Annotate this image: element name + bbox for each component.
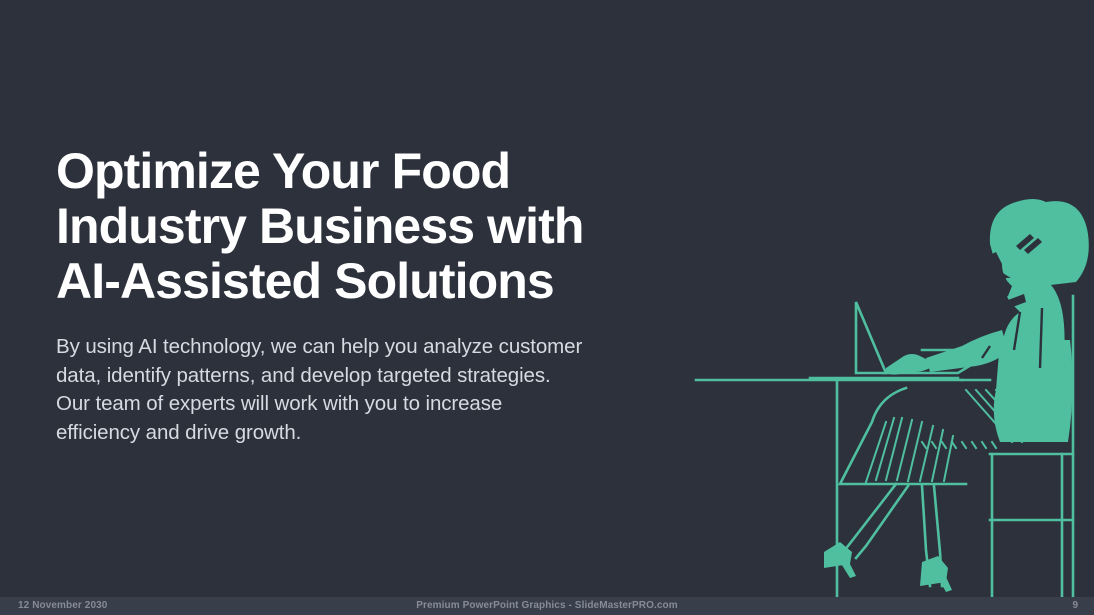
illustration-woman-laptop [690, 190, 1094, 597]
figure-solid-shapes [824, 199, 1089, 592]
footer-credit: Premium PowerPoint Graphics - SlideMaste… [0, 600, 1094, 611]
slide-text-content: Optimize Your Food Industry Business wit… [56, 144, 656, 447]
illustration-svg [690, 190, 1094, 597]
leg-front-2 [856, 486, 908, 558]
footer-page-number: 9 [1072, 600, 1078, 611]
page-title: Optimize Your Food Industry Business wit… [56, 144, 656, 309]
slide-subtitle: By using AI technology, we can help you … [56, 333, 656, 447]
laptop-screen [856, 302, 886, 373]
torso [994, 340, 1073, 442]
skirt-hatching [866, 418, 953, 482]
hand [886, 354, 936, 375]
slide-footer: 12 November 2030 Premium PowerPoint Grap… [0, 597, 1094, 615]
slide-canvas: Optimize Your Food Industry Business wit… [0, 0, 1094, 615]
